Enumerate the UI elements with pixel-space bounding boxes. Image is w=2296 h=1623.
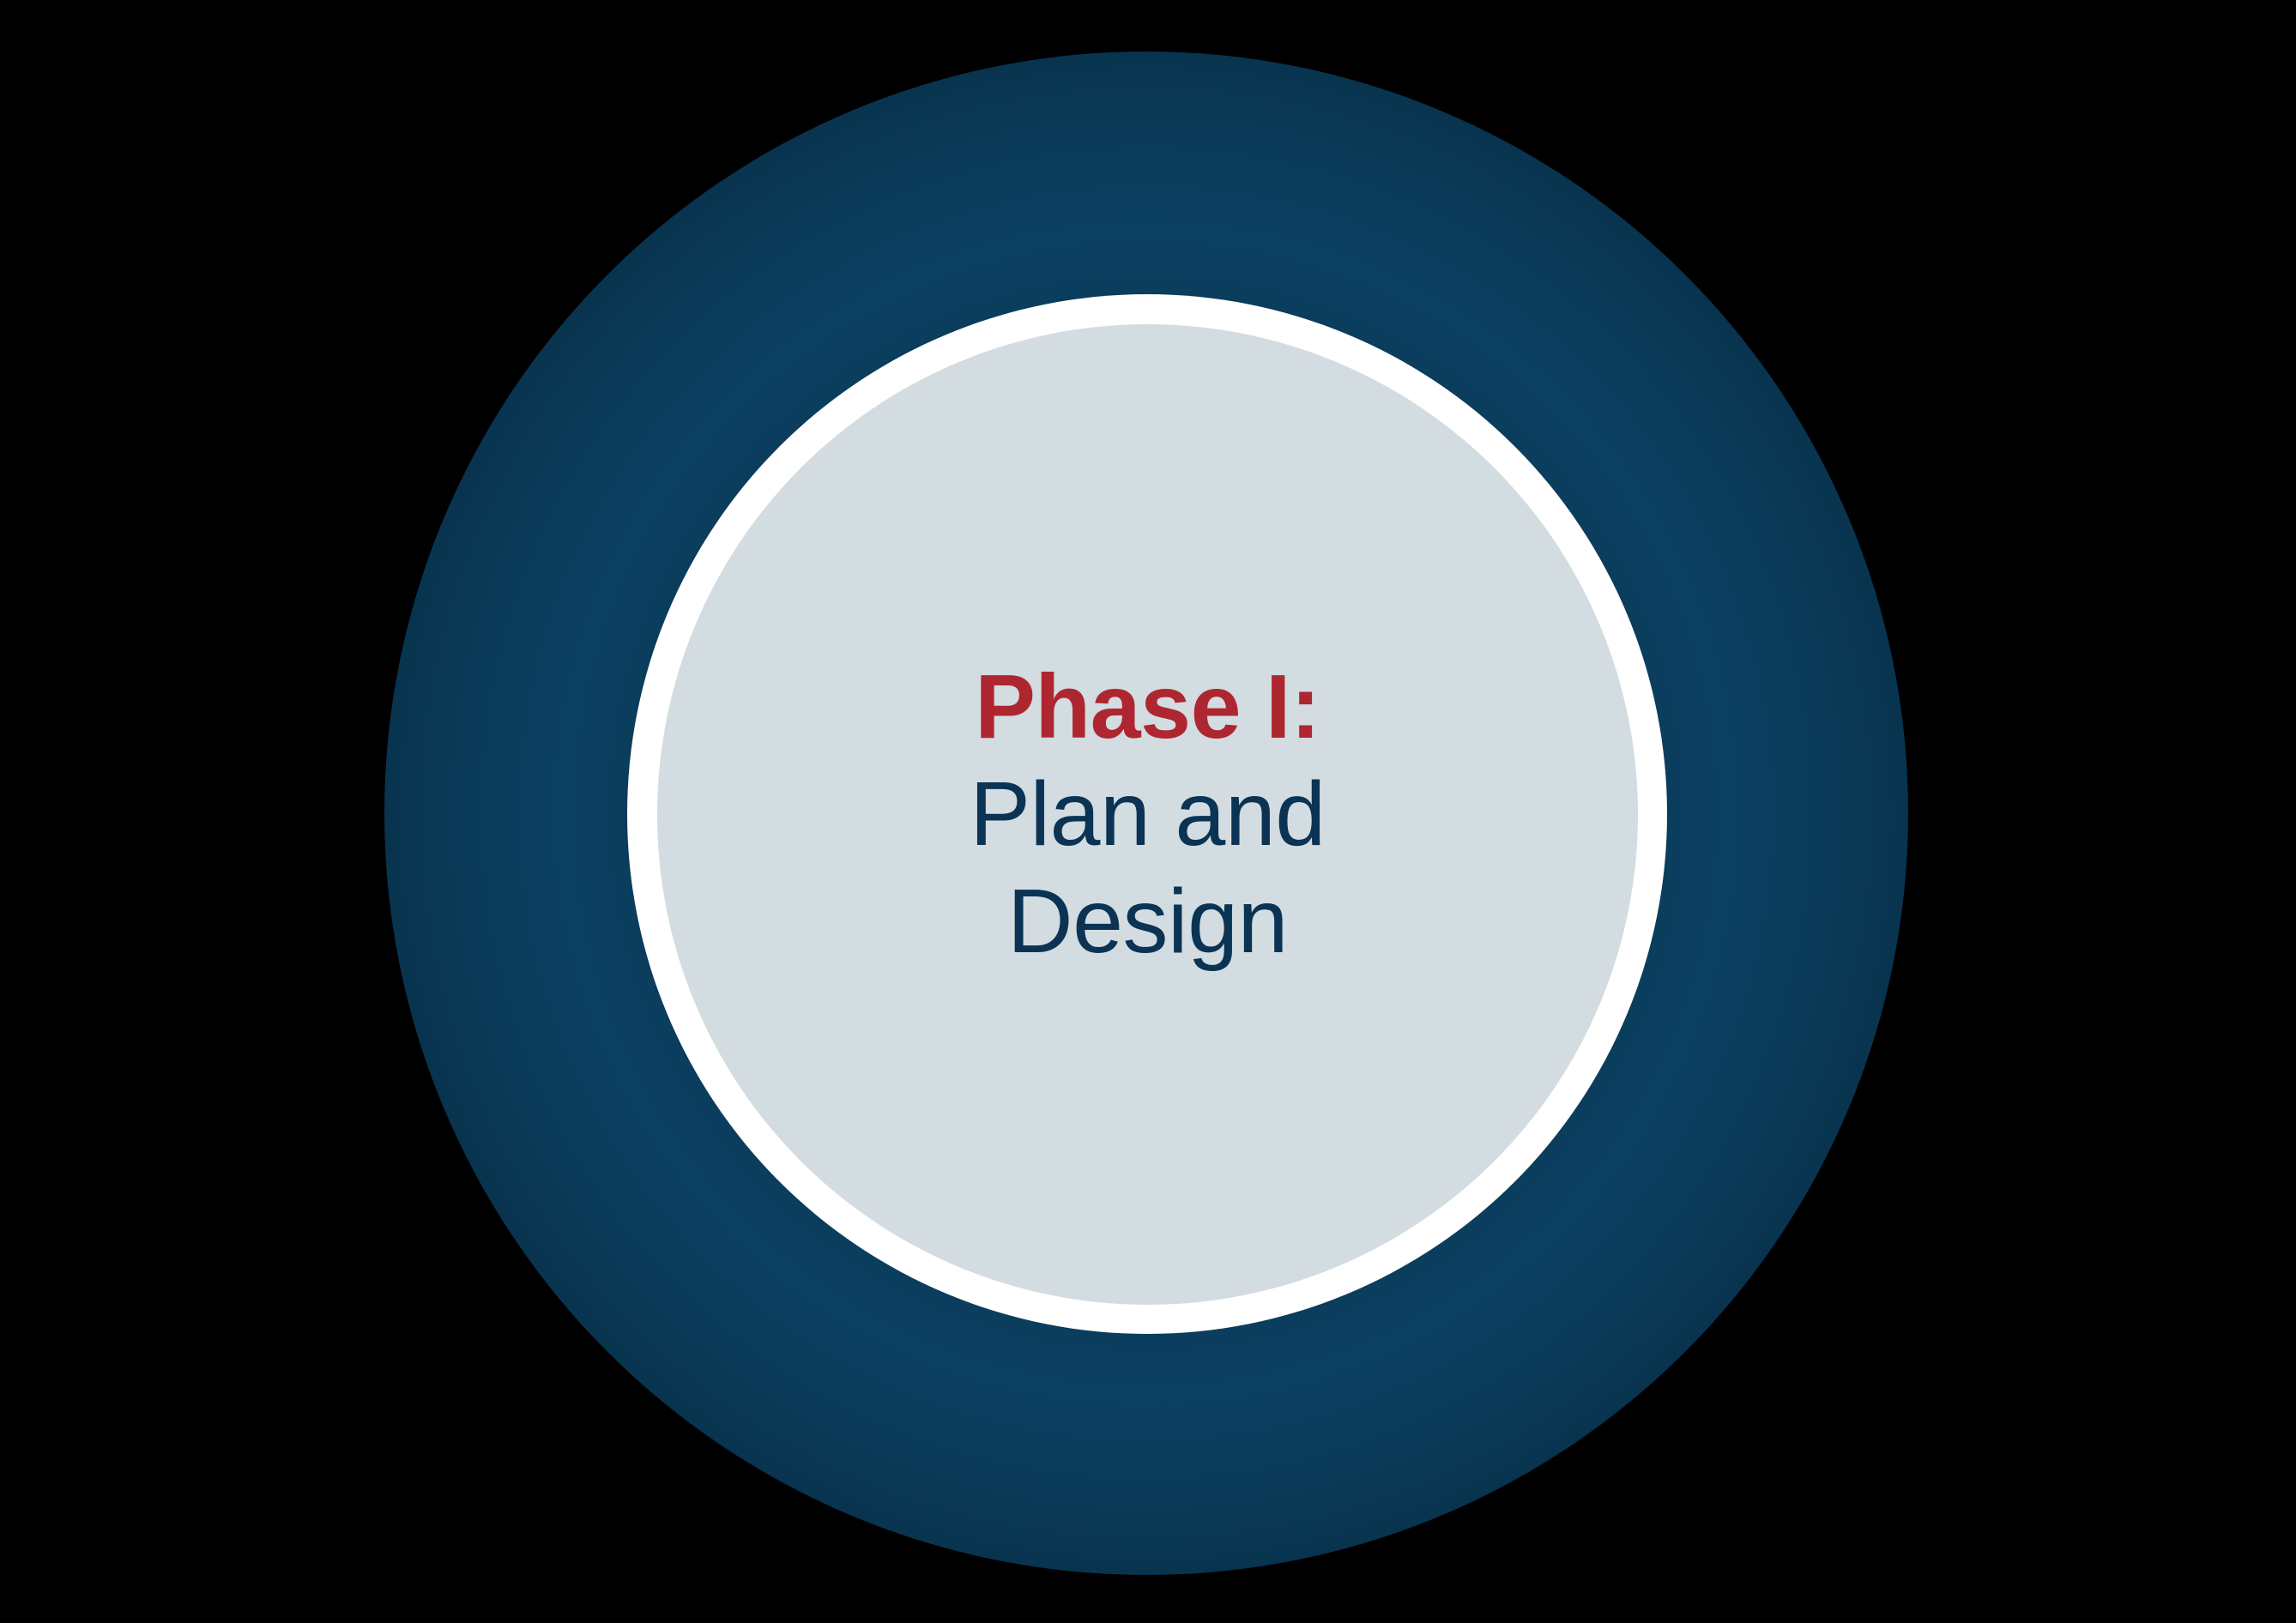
phase-subtitle-line-2: Design (657, 868, 1638, 975)
phase-label-block: Phase I: Plan and Design (657, 654, 1638, 975)
inner-circle[interactable]: Phase I: Plan and Design (657, 324, 1638, 1305)
slide-canvas: Phase I: Plan and Design (0, 0, 2296, 1623)
phase-title: Phase I: (657, 654, 1638, 761)
phase-subtitle-line-1: Plan and (657, 761, 1638, 868)
